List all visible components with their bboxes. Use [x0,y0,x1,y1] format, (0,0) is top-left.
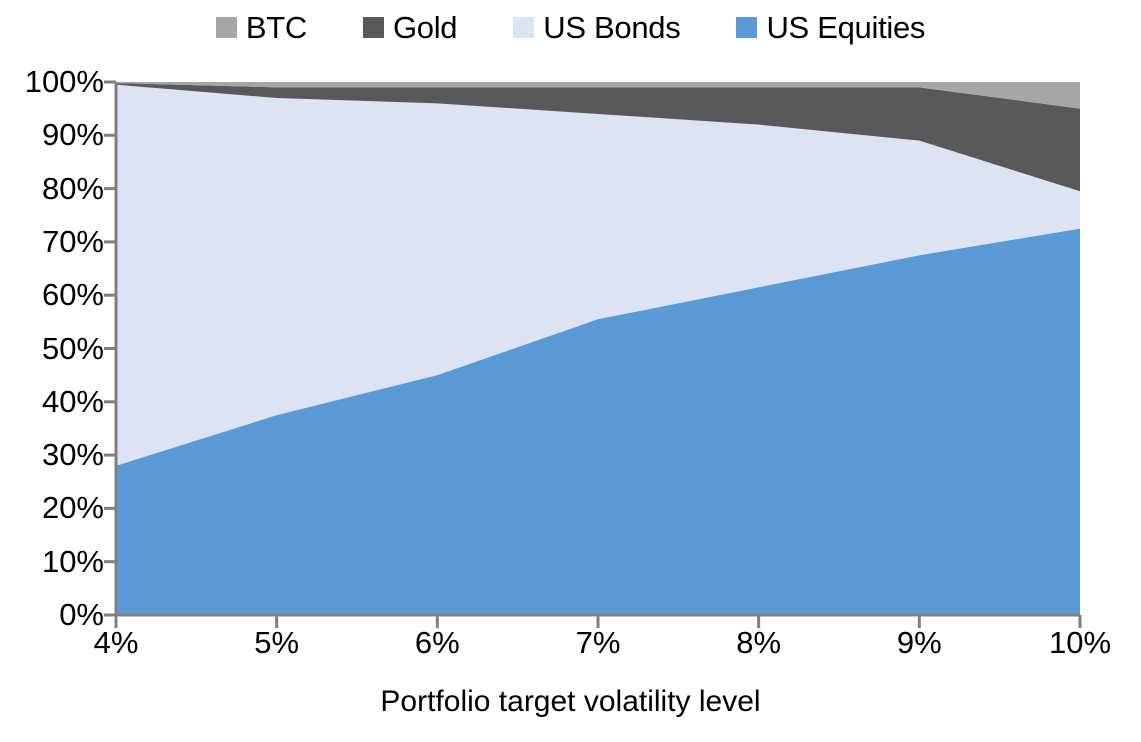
x-tick-label-9: 9% [897,627,942,658]
stacked-area-chart: BTC Gold US Bonds US Equities 0%10%20%30… [0,0,1141,742]
x-tick-label-6: 6% [415,627,460,658]
x-tick-label-5: 5% [254,627,299,658]
x-tick-label-10: 10% [1049,627,1111,658]
x-axis-tick-labels: 4%5%6%7%8%9%10% [0,0,1141,742]
x-axis-title: Portfolio target volatility level [0,687,1141,717]
x-tick-label-8: 8% [736,627,781,658]
x-tick-label-7: 7% [576,627,621,658]
x-tick-label-4: 4% [94,627,139,658]
